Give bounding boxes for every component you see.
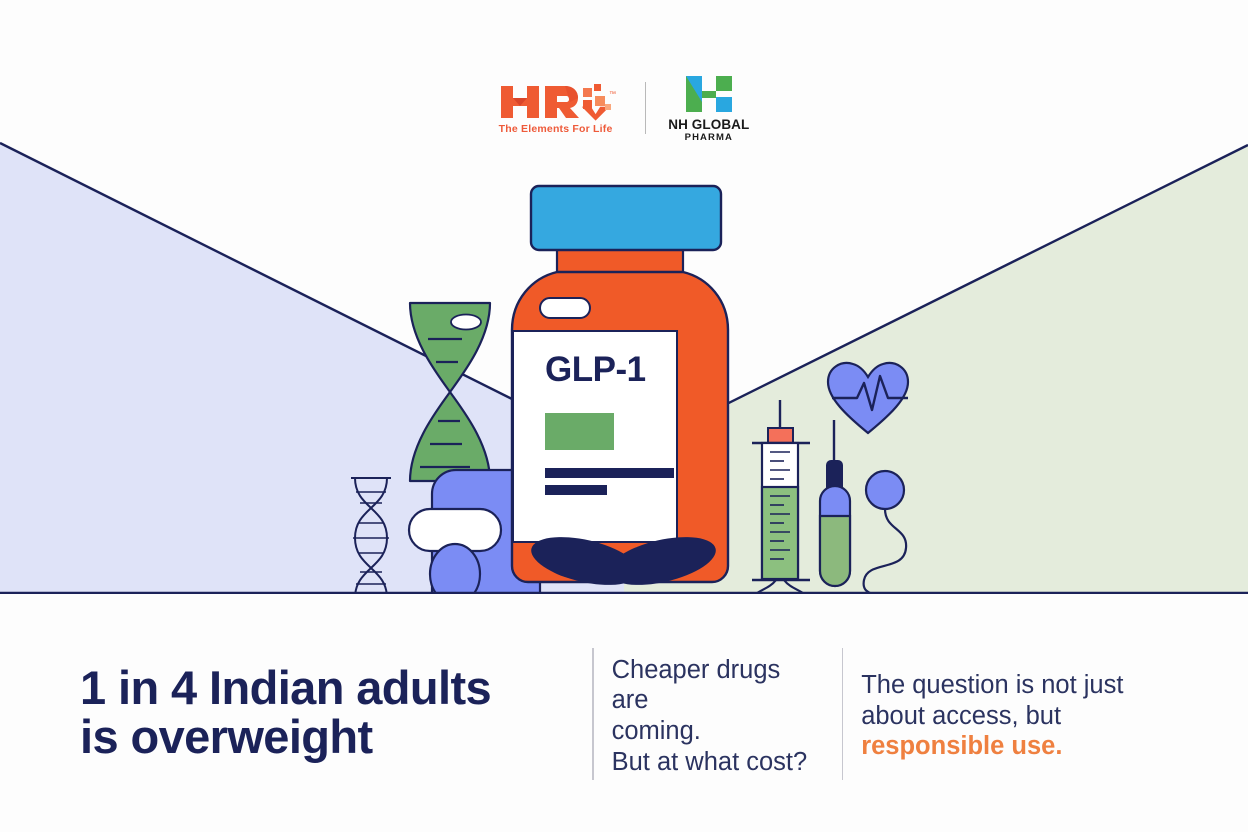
hrv-logomark-icon: ™: [499, 82, 623, 122]
nh-logo-name: NH GLOBAL: [668, 117, 749, 132]
headline-line-1: 1 in 4 Indian adults: [80, 664, 592, 713]
hrv-tagline: The Elements For Life: [499, 123, 613, 135]
headline: 1 in 4 Indian adults is overweight: [80, 664, 592, 768]
blurb2-line-2: about access, but: [861, 701, 1143, 732]
logo-divider: [645, 82, 647, 134]
blurb1-line-2: coming.: [612, 716, 824, 747]
blurb2-line-1: The question is not just: [861, 670, 1143, 701]
svg-text:™: ™: [609, 91, 616, 98]
label-line-long: [545, 468, 674, 478]
poster-root: GLP-1: [0, 0, 1248, 832]
nh-logomark-icon: [682, 74, 736, 114]
blurb1-line-1: Cheaper drugs are: [612, 655, 824, 716]
blurb1-line-3: But at what cost?: [612, 747, 824, 778]
nh-logo-sub: PHARMA: [685, 132, 733, 143]
blurb2-accent: responsible use.: [861, 731, 1143, 762]
bottle-label-title: GLP-1: [545, 350, 646, 389]
headline-line-2: is overweight: [80, 713, 592, 762]
label-green-block: [545, 413, 614, 450]
hrv-logo: ™ The Elements For Life: [499, 82, 623, 135]
blurb-answer: The question is not just about access, b…: [843, 670, 1161, 762]
logo-band: ™ The Elements For Life NH GLOBAL: [0, 72, 1248, 144]
pill-bottle-icon: GLP-1: [512, 186, 728, 594]
nh-global-logo: NH GLOBAL PHARMA: [668, 74, 749, 143]
blurb-question: Cheaper drugs are coming. But at what co…: [594, 655, 842, 777]
label-line-short: [545, 485, 607, 495]
bottom-copy-bar: 1 in 4 Indian adults is overweight Cheap…: [0, 600, 1248, 832]
